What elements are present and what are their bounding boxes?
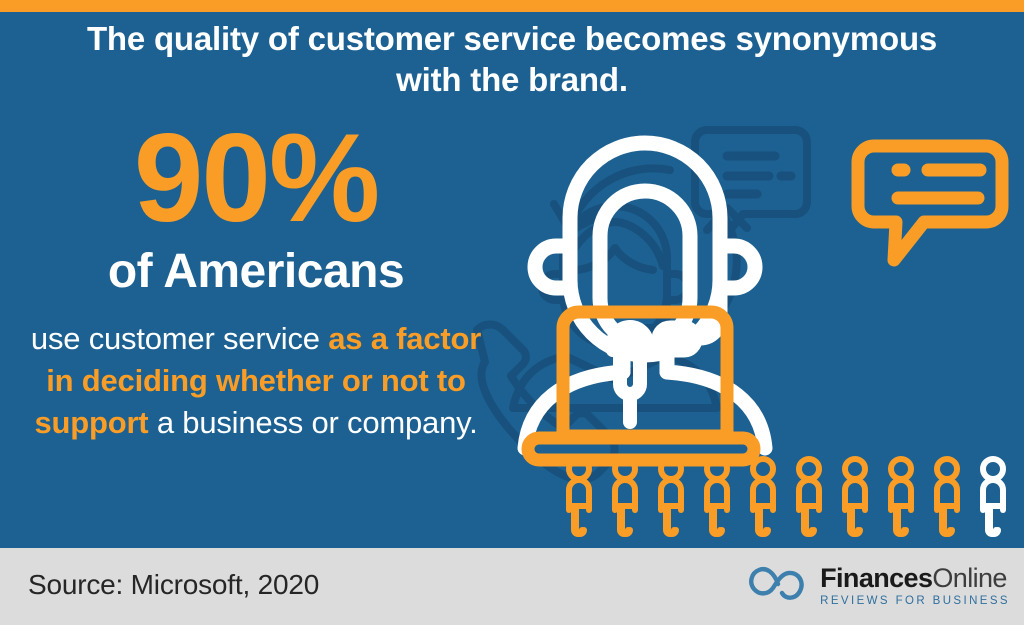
footer: Source: Microsoft, 2020 FinancesOnline R… bbox=[0, 548, 1024, 625]
person-icon-remainder bbox=[983, 459, 1003, 534]
infographic-canvas: The quality of customer service becomes … bbox=[0, 0, 1024, 625]
financesonline-logo[interactable]: FinancesOnline REVIEWS FOR BUSINESS bbox=[748, 562, 1010, 611]
logo-name: FinancesOnline bbox=[820, 563, 1007, 593]
stat-column: 90% of Americans use customer service as… bbox=[0, 120, 512, 444]
person-icon bbox=[707, 459, 727, 534]
logo-name-bold: Finances bbox=[820, 563, 932, 593]
person-icon bbox=[845, 459, 865, 534]
people-row bbox=[569, 459, 1003, 534]
person-icon bbox=[753, 459, 773, 534]
person-icon bbox=[799, 459, 819, 534]
person-icon bbox=[569, 459, 589, 534]
person-icon bbox=[661, 459, 681, 534]
logo-name-light: Online bbox=[932, 563, 1006, 593]
logo-tagline: REVIEWS FOR BUSINESS bbox=[820, 596, 1010, 608]
stat-subject: of Americans bbox=[0, 244, 512, 300]
top-accent-bar bbox=[0, 0, 1024, 12]
illustration bbox=[455, 118, 1024, 538]
body-copy-part1: use customer service bbox=[31, 321, 328, 356]
body-copy-part2: a business or company. bbox=[148, 405, 477, 440]
body-copy: use customer service as a factor in deci… bbox=[0, 318, 512, 444]
speech-bubble-icon bbox=[858, 146, 1002, 260]
stat-value: 90% bbox=[0, 120, 512, 238]
person-icon bbox=[937, 459, 957, 534]
source-text: Source: Microsoft, 2020 bbox=[28, 569, 319, 601]
headline: The quality of customer service becomes … bbox=[50, 18, 974, 100]
person-icon bbox=[891, 459, 911, 534]
logo-wordmark: FinancesOnline REVIEWS FOR BUSINESS bbox=[820, 565, 1010, 608]
infinity-cloud-icon bbox=[748, 562, 810, 611]
person-icon bbox=[615, 459, 635, 534]
